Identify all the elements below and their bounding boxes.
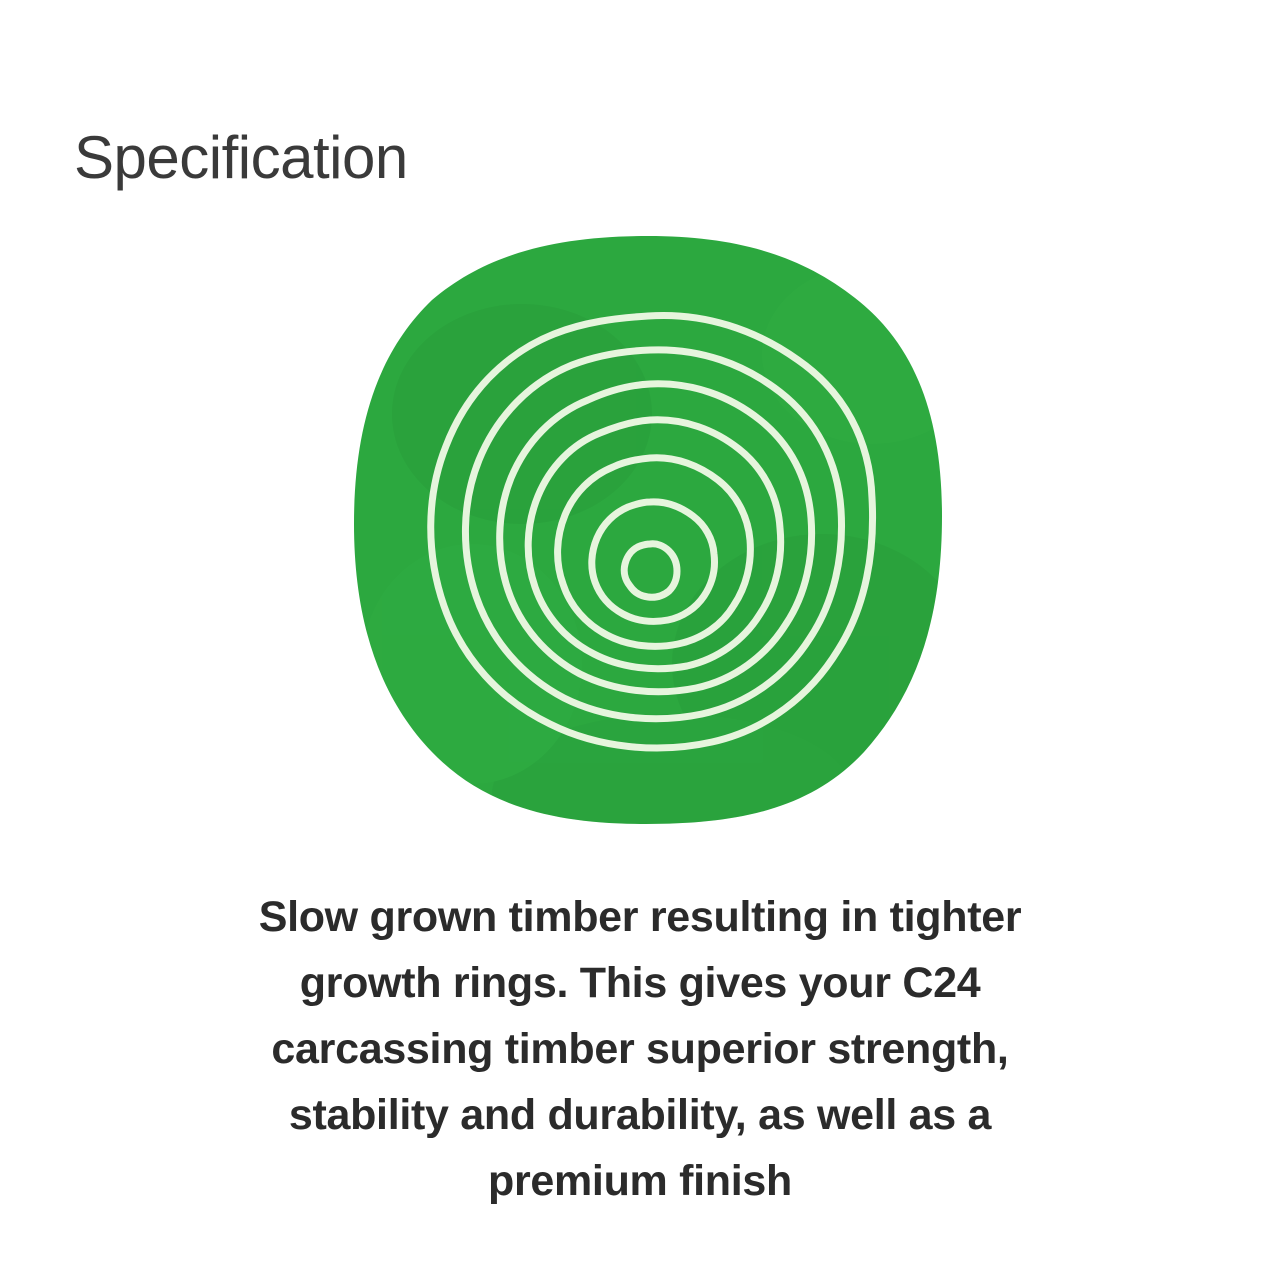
specification-panel: Specification [0,0,1280,1280]
description-line: growth rings. This gives your C24 [140,950,1140,1016]
description-line: stability and durability, as well as a [140,1082,1140,1148]
description-line: premium finish [140,1148,1140,1214]
specification-description: Slow grown timber resulting in tighter g… [140,884,1140,1214]
description-line: carcassing timber superior strength, [140,1016,1140,1082]
icon-disc [354,236,944,826]
description-line: Slow grown timber resulting in tighter [140,884,1140,950]
page-title: Specification [74,126,408,189]
tree-growth-rings-icon [352,234,944,826]
